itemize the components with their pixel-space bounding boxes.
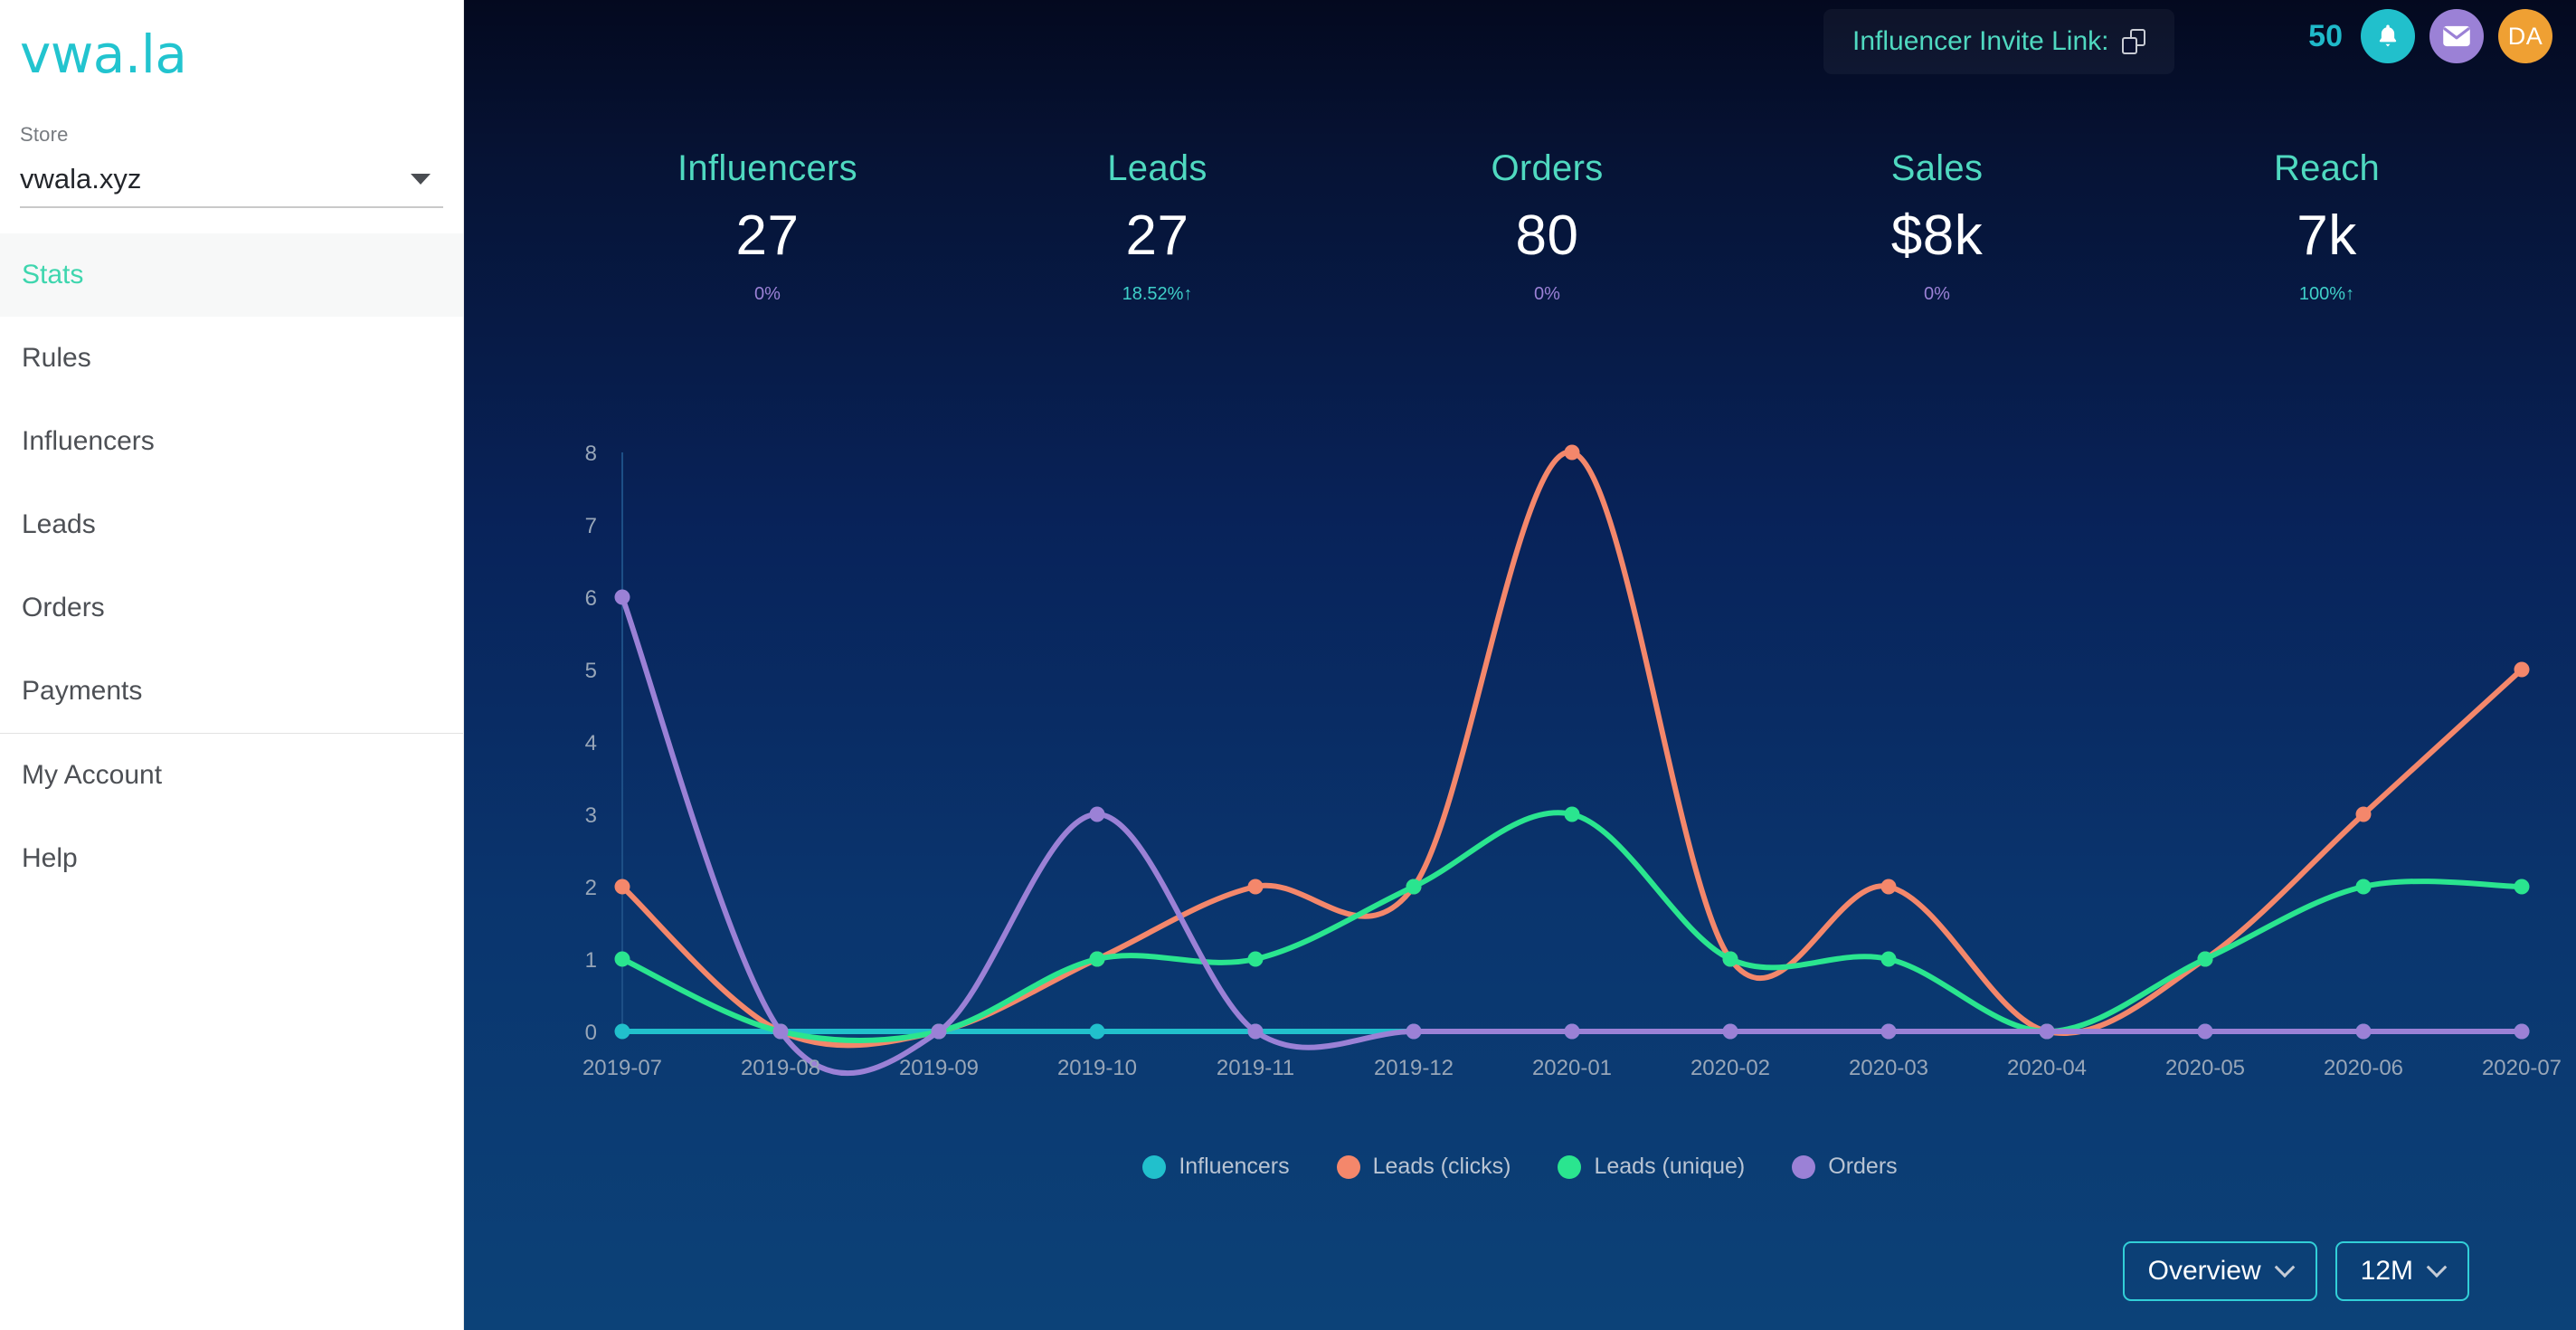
kpi-value: 27 [573,204,962,268]
series-point[interactable] [932,1024,947,1040]
sidebar-item-label: Stats [22,260,83,290]
kpi-card-sales: Sales$8k0% [1742,148,2132,305]
series-point[interactable] [1090,952,1105,967]
y-tick-label: 1 [585,948,597,973]
series-point[interactable] [615,1024,630,1040]
series-point[interactable] [615,590,630,605]
legend-item-orders[interactable]: Orders [1792,1154,1897,1180]
avatar-initials: DA [2508,23,2543,51]
sidebar-item-label: Orders [22,593,105,623]
series-line [622,452,2522,1046]
legend-label: Leads (clicks) [1373,1154,1511,1180]
series-point[interactable] [1406,1024,1422,1040]
kpi-card-orders: Orders800% [1352,148,1742,305]
sidebar-item-stats[interactable]: Stats [0,233,463,317]
kpi-value: 80 [1352,204,1742,268]
kpi-card-reach: Reach7k100%↑ [2132,148,2522,305]
sidebar-item-help[interactable]: Help [0,817,463,900]
y-tick-label: 8 [585,442,597,466]
series-point[interactable] [1723,952,1738,967]
view-select-label: Overview [2148,1256,2261,1287]
series-point[interactable] [2040,1024,2055,1040]
sidebar-item-payments[interactable]: Payments [0,650,463,733]
kpi-delta: 18.52%↑ [962,284,1352,305]
invite-link-label: Influencer Invite Link: [1852,26,2109,57]
x-tick-label: 2020-03 [1849,1056,1928,1080]
series-line [622,812,2522,1040]
kpi-value: $8k [1742,204,2132,268]
series-point[interactable] [1248,1024,1264,1040]
sidebar: vwa.la Store vwala.xyz StatsRulesInfluen… [0,0,464,1330]
topbar: Influencer Invite Link: 50 [464,0,2576,94]
series-point[interactable] [773,1024,789,1040]
kpi-delta: 100%↑ [2132,284,2522,305]
influencer-invite-link-button[interactable]: Influencer Invite Link: [1823,9,2174,74]
kpi-card-leads: Leads2718.52%↑ [962,148,1352,305]
series-point[interactable] [2356,807,2372,822]
series-point[interactable] [615,952,630,967]
y-tick-label: 3 [585,803,597,828]
y-tick-label: 0 [585,1021,597,1045]
store-label: Store [20,123,443,147]
store-select-value: vwala.xyz [20,163,141,195]
series-point[interactable] [2514,1024,2530,1040]
sidebar-item-label: Payments [22,676,142,707]
y-tick-label: 6 [585,586,597,611]
kpi-label: Sales [1742,148,2132,189]
chart-series-leads-unique [615,807,2530,1041]
series-point[interactable] [1248,952,1264,967]
store-select[interactable]: vwala.xyz [20,163,443,208]
legend-color-swatch [1142,1155,1166,1179]
chevron-down-icon [2427,1257,2448,1278]
series-point[interactable] [2198,952,2213,967]
sidebar-nav: StatsRulesInfluencersLeadsOrdersPayments… [0,233,463,900]
series-point[interactable] [1406,879,1422,895]
sidebar-item-leads[interactable]: Leads [0,483,463,566]
chevron-down-icon [411,174,431,185]
main-panel: Influencer Invite Link: 50 [464,0,2576,1330]
x-tick-label: 2020-06 [2324,1056,2403,1080]
mail-icon[interactable] [2429,9,2484,63]
x-tick-label: 2019-10 [1057,1056,1137,1080]
range-select-label: 12M [2361,1256,2413,1287]
x-tick-label: 2020-02 [1690,1056,1770,1080]
y-tick-label: 2 [585,876,597,900]
legend-label: Orders [1828,1154,1897,1180]
chart-series-leads-clicks [615,445,2530,1046]
series-point[interactable] [2356,879,2372,895]
x-tick-label: 2020-01 [1532,1056,1612,1080]
sidebar-item-influencers[interactable]: Influencers [0,400,463,483]
series-point[interactable] [615,879,630,895]
series-point[interactable] [1881,1024,1897,1040]
kpi-label: Leads [962,148,1352,189]
x-tick-label: 2019-09 [899,1056,979,1080]
series-point[interactable] [1565,807,1580,822]
chart-svg: 012345678 2019-072019-082019-092019-1020… [464,425,2576,1131]
kpi-card-influencers: Influencers270% [573,148,962,305]
legend-item-leads-clicks[interactable]: Leads (clicks) [1337,1154,1511,1180]
kpi-delta: 0% [573,284,962,305]
y-tick-label: 4 [585,731,597,755]
avatar[interactable]: DA [2498,9,2552,63]
range-select-button[interactable]: 12M [2335,1241,2469,1301]
series-point[interactable] [1565,1024,1580,1040]
x-tick-label: 2020-07 [2482,1056,2562,1080]
y-tick-label: 5 [585,659,597,683]
legend-color-swatch [1337,1155,1360,1179]
legend-item-influencers[interactable]: Influencers [1142,1154,1289,1180]
x-tick-label: 2019-07 [582,1056,662,1080]
y-tick-label: 7 [585,514,597,538]
sidebar-item-label: Help [22,843,78,874]
series-point[interactable] [2198,1024,2213,1040]
sidebar-item-label: Leads [22,509,96,540]
kpi-label: Reach [2132,148,2522,189]
app-root: vwa.la Store vwala.xyz StatsRulesInfluen… [0,0,2576,1330]
series-point[interactable] [1723,1024,1738,1040]
series-point[interactable] [2356,1024,2372,1040]
sidebar-item-label: Influencers [22,426,155,457]
series-point[interactable] [1090,807,1105,822]
sidebar-item-label: Rules [22,343,91,374]
chart-series-orders [615,590,2530,1074]
x-tick-label: 2019-11 [1217,1056,1294,1080]
series-point[interactable] [1090,1024,1105,1040]
legend-color-swatch [1558,1155,1581,1179]
chevron-down-icon [2274,1257,2295,1278]
series-point[interactable] [2514,662,2530,678]
x-tick-label: 2019-08 [741,1056,820,1080]
legend-label: Leads (unique) [1594,1154,1745,1180]
x-tick-label: 2020-05 [2165,1056,2245,1080]
series-point[interactable] [1881,879,1897,895]
chart-controls: Overview 12M [2123,1241,2469,1301]
kpi-delta: 0% [1352,284,1742,305]
sidebar-item-orders[interactable]: Orders [0,566,463,650]
series-point[interactable] [2514,879,2530,895]
view-select-button[interactable]: Overview [2123,1241,2317,1301]
notification-count: 50 [2308,19,2343,54]
series-line [622,597,2522,1073]
topbar-actions: 50 DA [2308,9,2552,63]
kpi-label: Influencers [573,148,962,189]
stats-chart: 012345678 2019-072019-082019-092019-1020… [464,425,2576,1131]
sidebar-item-rules[interactable]: Rules [0,317,463,400]
sidebar-item-my-account[interactable]: My Account [0,734,463,817]
legend-label: Influencers [1179,1154,1289,1180]
chart-legend: InfluencersLeads (clicks)Leads (unique)O… [464,1154,2576,1180]
series-point[interactable] [1248,879,1264,895]
kpi-delta: 0% [1742,284,2132,305]
sidebar-item-label: My Account [22,760,162,791]
x-tick-label: 2020-04 [2007,1056,2087,1080]
kpi-value: 7k [2132,204,2522,268]
copy-icon[interactable] [2122,29,2145,54]
legend-item-leads-unique[interactable]: Leads (unique) [1558,1154,1745,1180]
bell-icon[interactable] [2361,9,2415,63]
x-tick-label: 2019-12 [1374,1056,1454,1080]
store-selector-block: Store vwala.xyz [0,85,463,208]
series-point[interactable] [1565,445,1580,461]
brand-logo[interactable]: vwa.la [0,0,463,85]
kpi-value: 27 [962,204,1352,268]
kpi-row: Influencers270%Leads2718.52%↑Orders800%S… [464,148,2576,305]
legend-color-swatch [1792,1155,1815,1179]
kpi-label: Orders [1352,148,1742,189]
series-point[interactable] [1881,952,1897,967]
chart-series-group [615,445,2530,1074]
